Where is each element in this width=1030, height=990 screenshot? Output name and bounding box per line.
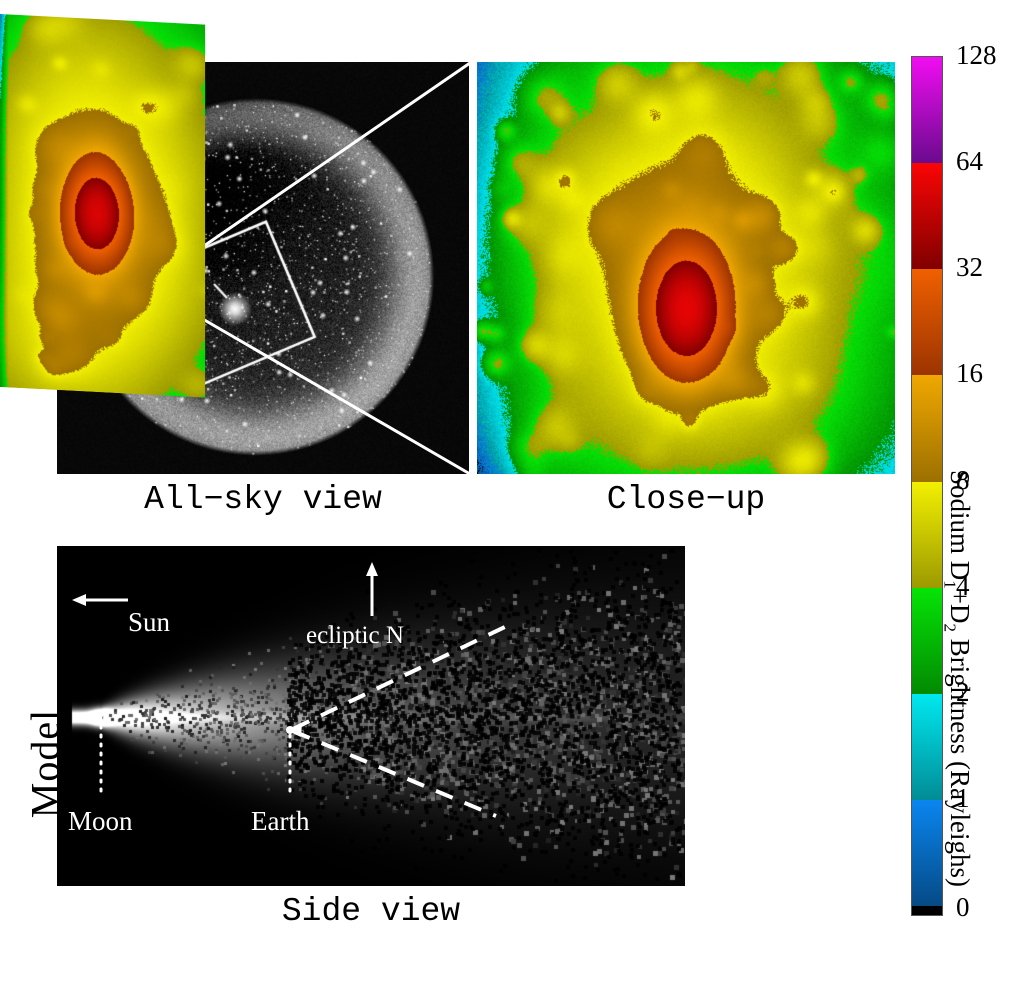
model-closeup-image: [0, 14, 205, 398]
caption-allsky: All−sky view: [57, 481, 469, 518]
colorbar-tick-128: 128: [956, 40, 997, 71]
annotation-sun: Sun: [128, 607, 170, 638]
colorbar-tick-16: 16: [956, 358, 983, 389]
colorbar-band-8: [912, 482, 942, 588]
colorbar-band-2: [912, 694, 942, 800]
colorbar-band-64: [912, 163, 942, 269]
colorbar-under-cap: [912, 906, 942, 915]
annotation-earth: Earth: [251, 806, 309, 837]
caption-sideview: Side view: [57, 893, 685, 930]
colorbar-tick-32: 32: [956, 252, 983, 283]
colorbar-title-post: Brightness (Rayleighs): [945, 632, 975, 887]
sideview-panel[interactable]: [57, 546, 685, 886]
colorbar-band-16: [912, 375, 942, 481]
colorbar-title-sub1: 1: [941, 580, 960, 589]
sideview-image: [57, 546, 685, 886]
annotation-moon: Moon: [68, 806, 133, 837]
colorbar-title-mid: +D: [945, 589, 975, 624]
colorbar[interactable]: [912, 57, 942, 915]
figure-root: Data Model All−sky view Close−up: [0, 0, 1030, 939]
colorbar-title-sub2: 2: [941, 624, 960, 633]
colorbar-title-pre: Sodium D: [945, 470, 975, 580]
annotation-ecliptic-n: ecliptic N: [306, 622, 404, 650]
colorbar-band-128: [912, 57, 942, 163]
colorbar-band-1: [912, 800, 942, 906]
caption-closeup: Close−up: [477, 481, 895, 518]
colorbar-tick-64: 64: [956, 146, 983, 177]
colorbar-title: Sodium D1+D2 Brightness (Rayleighs): [940, 470, 975, 990]
colorbar-band-4: [912, 588, 942, 694]
colorbar-band-32: [912, 269, 942, 375]
closeup-image: [477, 62, 895, 474]
closeup-panel[interactable]: [477, 62, 895, 474]
model-closeup-panel[interactable]: [0, 0, 205, 412]
